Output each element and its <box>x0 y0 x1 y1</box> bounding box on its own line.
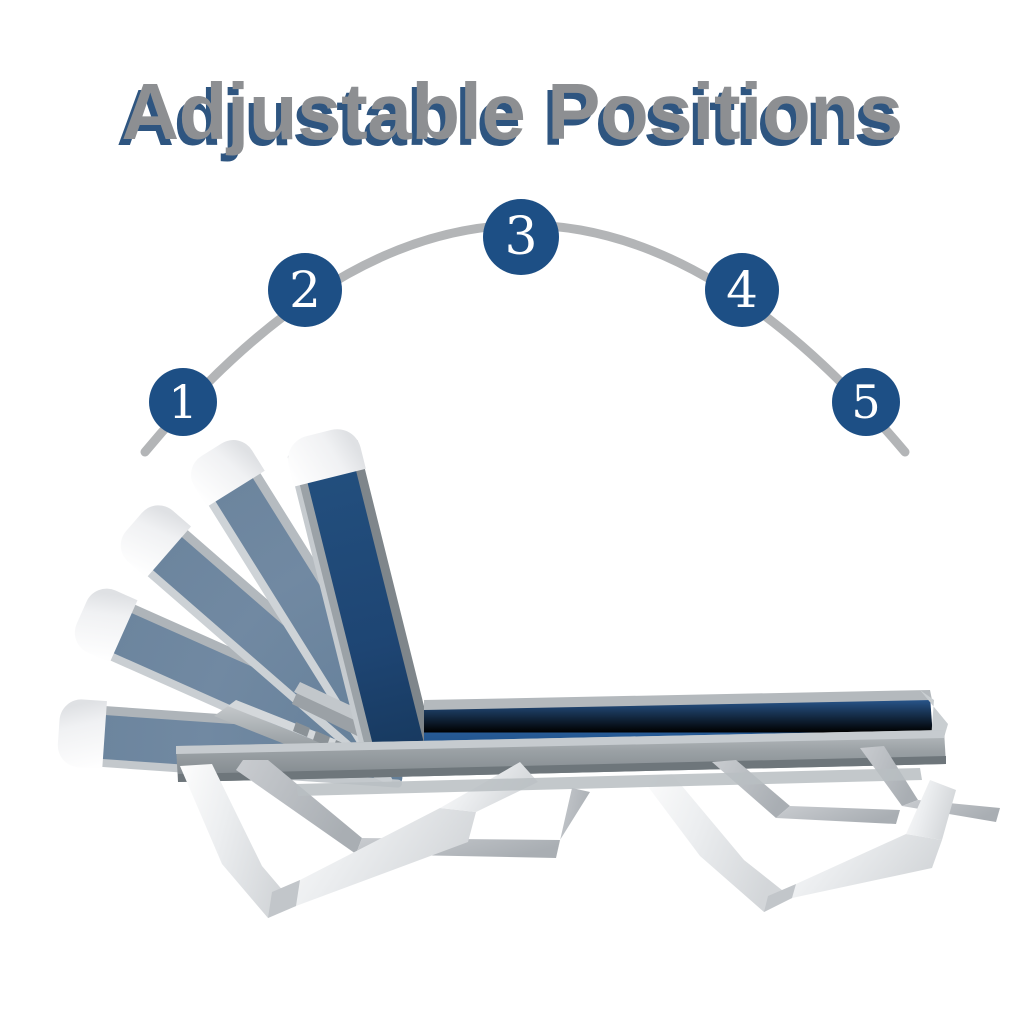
position-badge-2[interactable]: 2 <box>268 253 342 327</box>
chaise-lounger-illustration <box>0 0 1024 1024</box>
position-badge-3[interactable]: 3 <box>483 199 559 275</box>
position-badge-label: 1 <box>168 375 197 429</box>
position-badge-label: 2 <box>289 261 321 319</box>
position-badge-label: 4 <box>726 261 758 319</box>
position-badge-1[interactable]: 1 <box>149 368 217 436</box>
position-badge-label: 3 <box>504 207 537 267</box>
position-badge-label: 5 <box>851 375 880 429</box>
position-badge-4[interactable]: 4 <box>705 253 779 327</box>
infographic-canvas: Adjustable Positions Adjustable Position… <box>0 0 1024 1024</box>
position-badge-5[interactable]: 5 <box>832 368 900 436</box>
